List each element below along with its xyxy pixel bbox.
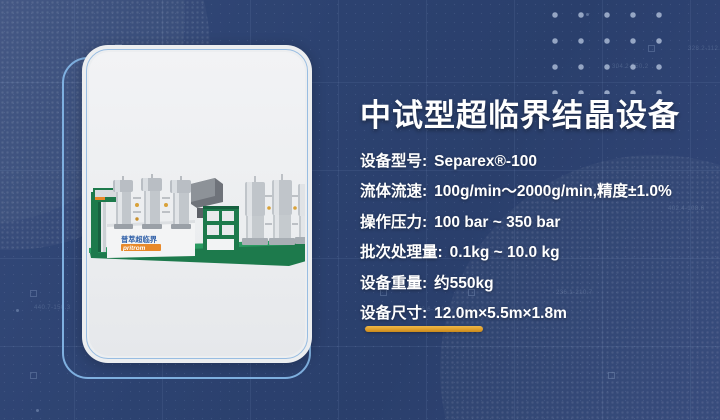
blueprint-marker bbox=[648, 45, 655, 52]
blueprint-marker bbox=[30, 372, 37, 379]
blueprint-marker bbox=[608, 372, 615, 379]
blueprint-note: 328.2-112.8 bbox=[688, 46, 720, 52]
blueprint-dot bbox=[16, 309, 19, 312]
product-photo-card: 普萃超临界 pritrom bbox=[82, 45, 312, 363]
spec-row-flow-rate: 流体流速: 100g/min～2000g/min,精度±1.0% bbox=[360, 179, 710, 201]
spec-value: 12.0m×5.5m×1.8m bbox=[434, 305, 567, 323]
spec-label: 流体流速: bbox=[360, 179, 427, 201]
spec-value: 约550kg bbox=[434, 271, 493, 293]
spec-label: 操作压力: bbox=[360, 210, 427, 232]
spec-label: 设备重量: bbox=[360, 271, 427, 293]
blueprint-dot bbox=[586, 13, 589, 16]
spec-row-weight: 设备重量: 约550kg bbox=[360, 271, 710, 293]
blueprint-note: 304.2-550.2 bbox=[612, 64, 648, 70]
spec-value: 100 bar ~ 350 bar bbox=[434, 214, 560, 232]
product-photo-inner: 普萃超临界 pritrom bbox=[89, 52, 305, 356]
spec-row-dimensions: 设备尺寸: 12.0m×5.5m×1.8m bbox=[360, 301, 710, 323]
page-title: 中试型超临界结晶设备 bbox=[360, 98, 710, 135]
spec-panel: 中试型超临界结晶设备 设备型号: Separex®-100 流体流速: 100g… bbox=[360, 98, 710, 332]
spec-label: 设备尺寸: bbox=[360, 301, 427, 323]
gold-accent-bar bbox=[365, 326, 483, 332]
spec-row-batch-capacity: 批次处理量: 0.1kg ~ 10.0 kg bbox=[360, 240, 710, 262]
blueprint-dot bbox=[36, 409, 39, 412]
spec-label: 设备型号: bbox=[360, 149, 427, 171]
spec-value: Separex®-100 bbox=[434, 153, 537, 171]
spec-label: 批次处理量: bbox=[360, 240, 443, 262]
spec-row-model: 设备型号: Separex®-100 bbox=[360, 149, 710, 171]
spec-value: 100g/min～2000g/min,精度±1.0% bbox=[434, 179, 672, 201]
spec-row-pressure: 操作压力: 100 bar ~ 350 bar bbox=[360, 210, 710, 232]
blueprint-marker bbox=[30, 290, 37, 297]
svg-text:pritrom: pritrom bbox=[122, 245, 146, 252]
svg-text:普萃超临界: 普萃超临界 bbox=[121, 235, 158, 244]
equipment-photo-illustration: 普萃超临界 pritrom bbox=[89, 162, 305, 284]
spec-value: 0.1kg ~ 10.0 kg bbox=[450, 244, 560, 262]
spec-list: 设备型号: Separex®-100 流体流速: 100g/min～2000g/… bbox=[360, 149, 710, 324]
dot-matrix-top-right bbox=[542, 2, 662, 94]
